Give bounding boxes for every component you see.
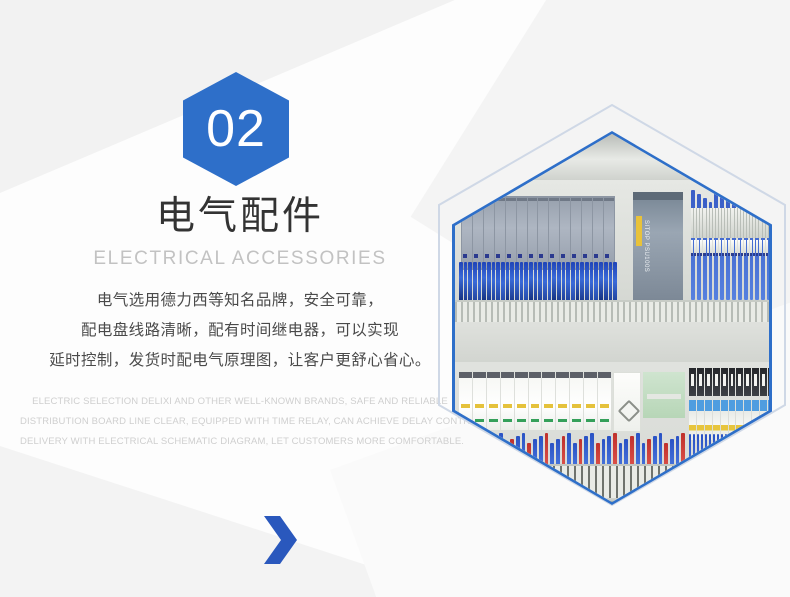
section-number-hexagon: 02: [183, 72, 289, 186]
text-column: 电气配件 ELECTRICAL ACCESSORIES 电气选用德力西等知名品牌…: [20, 195, 460, 452]
relay-bank-upper: [689, 368, 769, 396]
circuit-breaker-row: [459, 372, 611, 430]
psu-label-strip: [636, 216, 642, 246]
description-en-line: ELECTRIC SELECTION DELIXI AND OTHER WELL…: [20, 392, 460, 412]
power-socket: [613, 372, 641, 432]
description-en-line: DISTRIBUTION BOARD LINE CLEAR, EQUIPPED …: [20, 412, 460, 432]
description-chinese: 电气选用德力西等知名品牌，安全可靠， 配电盘线路清晰，配有时间继电器，可以实现 …: [20, 286, 460, 376]
description-cn-line: 延时控制，发货时配电气原理图，让客户更舒心省心。: [20, 346, 460, 376]
terminal-block-upper-row2: [691, 240, 769, 256]
description-cn-line: 电气选用德力西等知名品牌，安全可靠，: [20, 286, 460, 316]
description-cn-line: 配电盘线路清晰，配有时间继电器，可以实现: [20, 316, 460, 346]
din-rail-green: [643, 372, 685, 418]
description-english: ELECTRIC SELECTION DELIXI AND OTHER WELL…: [20, 392, 460, 452]
cabinet-mid-panel: [455, 322, 769, 362]
promo-banner: 02 电气配件 ELECTRICAL ACCESSORIES 电气选用德力西等知…: [0, 0, 790, 597]
power-supply-unit: SITOP PSU100S: [633, 192, 683, 308]
chevron-right-icon[interactable]: [264, 516, 297, 564]
psu-model-text: SITOP PSU100S: [643, 220, 649, 272]
section-number: 02: [206, 103, 266, 155]
plc-module-bank: [461, 196, 615, 270]
page-subtitle: ELECTRICAL ACCESSORIES: [20, 248, 460, 270]
page-title: 电气配件: [20, 195, 460, 240]
description-en-line: DELIVERY WITH ELECTRICAL SCHEMATIC DIAGR…: [20, 432, 460, 452]
